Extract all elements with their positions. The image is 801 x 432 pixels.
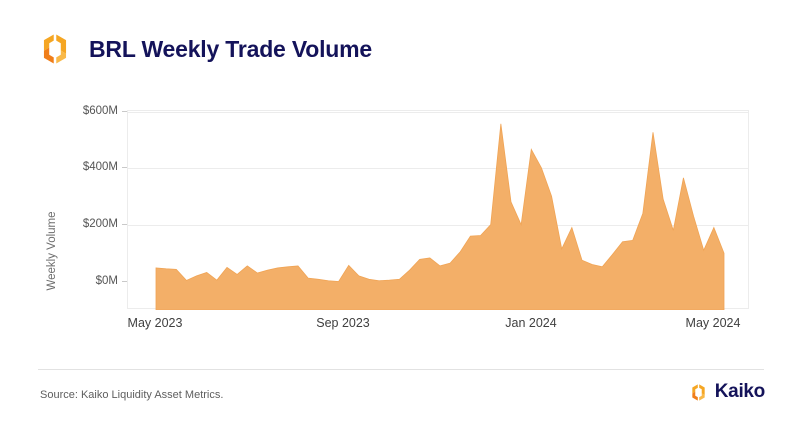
source-note: Source: Kaiko Liquidity Asset Metrics. [40,389,223,401]
kaiko-logo-icon [38,32,72,66]
page-title: BRL Weekly Trade Volume [89,36,372,63]
x-tick-label-may-2024: May 2024 [686,316,741,330]
y-tick-label-200: $200M [28,218,118,230]
y-tick-label-400: $400M [28,161,118,173]
chart-page: BRL Weekly Trade Volume Weekly Volume $0… [0,0,801,432]
footer-divider [38,369,764,370]
y-tick-label-0: $0M [28,275,118,287]
x-tick-label-jan-2024: Jan 2024 [505,316,556,330]
plot-area [127,110,749,309]
footer-wordmark: Kaiko [715,381,765,403]
volume-area-series [128,111,750,310]
footer-brand: Kaiko [689,381,765,403]
y-tick-label-600: $600M [28,105,118,117]
x-tick-label-may-2023: May 2023 [128,316,183,330]
y-axis-title: Weekly Volume [46,181,58,321]
chart-header: BRL Weekly Trade Volume [38,32,372,66]
x-tick-label-sep-2023: Sep 2023 [316,316,370,330]
chart-container: Weekly Volume $0M $200M $400M $600M May … [0,95,801,350]
kaiko-logo-icon [689,383,708,402]
